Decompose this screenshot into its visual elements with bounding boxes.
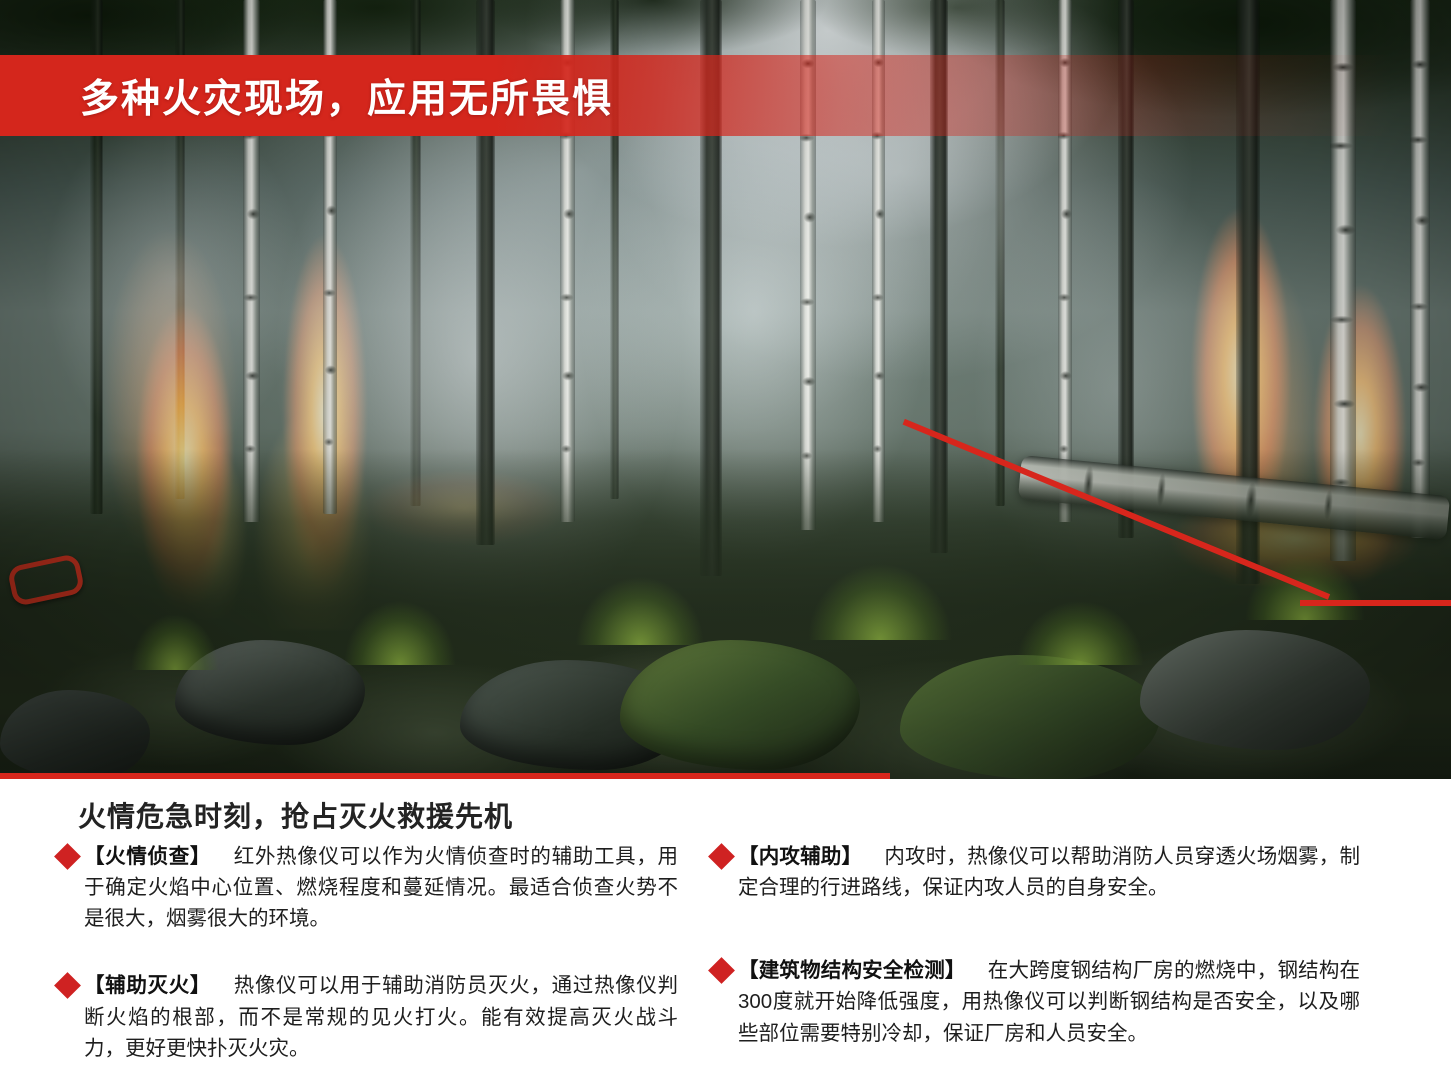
- rock-mossy: [620, 640, 860, 770]
- section-heading: 火情危急时刻，抢占灭火救援先机: [78, 795, 513, 835]
- content-column-right: 【内攻辅助】内攻时，热像仪可以帮助消防人员穿透火场烟雾，制定合理的行进路线，保证…: [712, 841, 1360, 1071]
- rock-mossy: [900, 655, 1160, 779]
- grass-tuft: [120, 600, 230, 670]
- content-section: 火情危急时刻，抢占灭火救援先机 【火情侦查】红外热像仪可以作为火情侦查时的辅助工…: [0, 779, 1451, 1080]
- content-column-left: 【火情侦查】红外热像仪可以作为火情侦查时的辅助工具，用于确定火焰中心位置、燃烧程…: [58, 841, 678, 1086]
- feature-item: 【内攻辅助】内攻时，热像仪可以帮助消防人员穿透火场烟雾，制定合理的行进路线，保证…: [712, 841, 1360, 903]
- feature-label: 【内攻辅助】: [738, 845, 862, 868]
- feature-item: 【辅助灭火】热像仪可以用于辅助消防员灭火，通过热像仪判断火焰的根部，而不是常规的…: [58, 970, 678, 1063]
- feature-label: 【建筑物结构安全检测】: [738, 959, 966, 982]
- feature-body: 【内攻辅助】内攻时，热像仪可以帮助消防人员穿透火场烟雾，制定合理的行进路线，保证…: [712, 841, 1360, 903]
- grass-tuft: [790, 545, 970, 640]
- rock: [1140, 630, 1370, 750]
- page-title: 多种火灾现场，应用无所畏惧: [80, 68, 613, 124]
- title-banner: 多种火灾现场，应用无所畏惧: [0, 55, 1451, 136]
- feature-label: 【辅助灭火】: [84, 974, 211, 997]
- feature-item: 【火情侦查】红外热像仪可以作为火情侦查时的辅助工具，用于确定火焰中心位置、燃烧程…: [58, 841, 678, 934]
- feature-body: 【火情侦查】红外热像仪可以作为火情侦查时的辅助工具，用于确定火焰中心位置、燃烧程…: [58, 841, 678, 934]
- grass-tuft: [1230, 540, 1380, 620]
- grass-tuft: [1000, 585, 1160, 665]
- feature-label: 【火情侦查】: [84, 845, 211, 868]
- grass-tuft: [560, 560, 720, 645]
- feature-body: 【辅助灭火】热像仪可以用于辅助消防员灭火，通过热像仪判断火焰的根部，而不是常规的…: [58, 970, 678, 1063]
- feature-body: 【建筑物结构安全检测】在大跨度钢结构厂房的燃烧中，钢结构在300度就开始降低强度…: [712, 955, 1360, 1048]
- rock: [0, 690, 150, 779]
- grass-tuft: [330, 585, 470, 665]
- red-top-accent-line: [1300, 600, 1451, 606]
- feature-item: 【建筑物结构安全检测】在大跨度钢结构厂房的燃烧中，钢结构在300度就开始降低强度…: [712, 955, 1360, 1048]
